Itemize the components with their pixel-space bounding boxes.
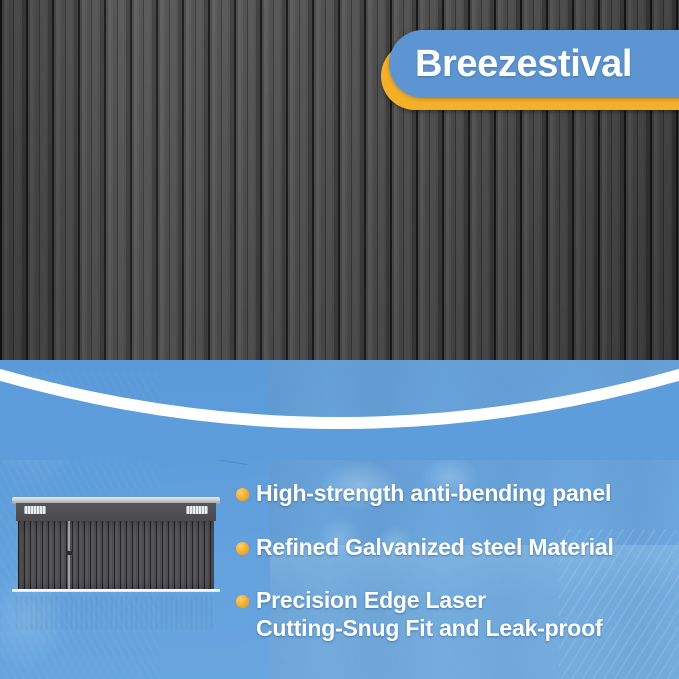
list-item: Refined Galvanized steel Material bbox=[236, 534, 676, 562]
list-item: Precision Edge Laser Cutting-Snug Fit an… bbox=[236, 587, 676, 642]
feature-list: High-strength anti-bending panel Refined… bbox=[236, 480, 676, 668]
vent-right-icon bbox=[186, 506, 208, 514]
list-item: High-strength anti-bending panel bbox=[236, 480, 676, 508]
shed-door-handle bbox=[66, 551, 73, 555]
feature-text: High-strength anti-bending panel bbox=[256, 480, 611, 508]
vent-left-icon bbox=[24, 506, 46, 514]
bullet-dot-icon bbox=[236, 595, 249, 608]
bullet-dot-icon bbox=[236, 488, 249, 501]
shed-door-panels bbox=[18, 521, 214, 590]
bullet-dot-icon bbox=[236, 542, 249, 555]
shed-reflection bbox=[16, 596, 216, 630]
badge-pill: Breezestival bbox=[389, 30, 679, 98]
shed-door-split bbox=[68, 521, 70, 590]
brand-badge: Breezestival bbox=[381, 30, 679, 114]
feature-text: Precision Edge Laser Cutting-Snug Fit an… bbox=[256, 587, 602, 642]
brand-name: Breezestival bbox=[415, 43, 632, 86]
storage-shed-product bbox=[12, 497, 220, 595]
shed-base-strip bbox=[12, 589, 220, 592]
product-banner-canvas: Breezestival High-strength anti-bending … bbox=[0, 0, 679, 679]
feature-text: Refined Galvanized steel Material bbox=[256, 534, 614, 562]
